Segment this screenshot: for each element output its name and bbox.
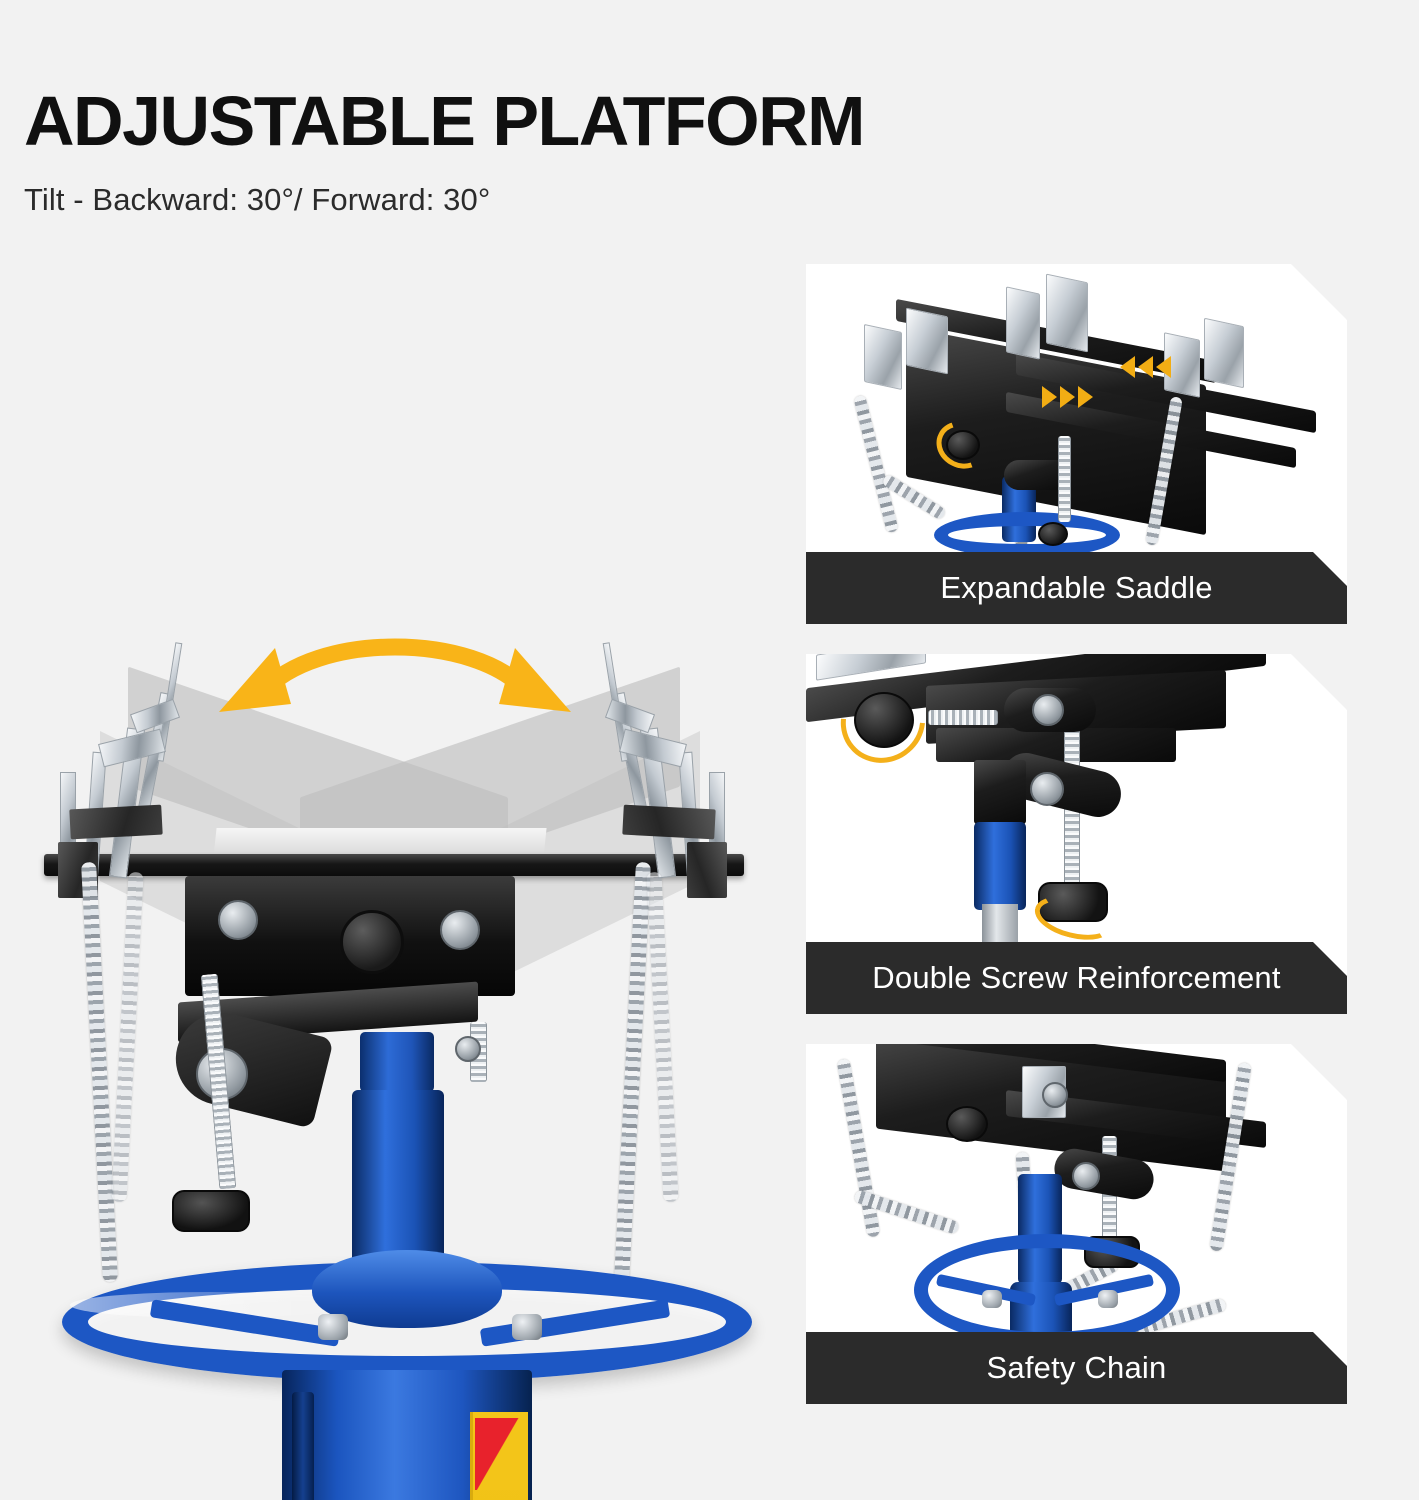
chevron-expand-icon <box>1042 386 1057 408</box>
hub-adjust-knob <box>340 910 404 974</box>
saddle-arm-right <box>575 632 745 892</box>
hero-product-image <box>0 262 790 1500</box>
ring-bolt-right <box>512 1314 542 1340</box>
base-ring <box>934 512 1120 558</box>
safety-chain-left-2 <box>111 872 143 1202</box>
feature-caption-expandable-saddle: Expandable Saddle <box>806 552 1347 624</box>
feature-caption-double-screw: Double Screw Reinforcement <box>806 942 1347 1014</box>
feature-caption-label: Double Screw Reinforcement <box>872 960 1280 996</box>
ram-collar <box>360 1032 434 1092</box>
warning-sticker <box>470 1412 528 1500</box>
base-ring <box>914 1234 1180 1346</box>
ring-bolt-left <box>318 1314 348 1340</box>
feature-card-expandable-saddle[interactable]: Expandable Saddle <box>806 264 1347 624</box>
hub-bolt-right <box>440 910 480 950</box>
jack-column-rail <box>292 1392 314 1500</box>
adjuster-knob-left <box>172 1190 250 1232</box>
adjuster-pin-right <box>455 1036 481 1062</box>
feature-caption-safety-chain: Safety Chain <box>806 1332 1347 1404</box>
safety-chain-left <box>836 1058 880 1238</box>
tilt-arrow-icon <box>205 620 585 735</box>
safety-chain-left <box>81 862 118 1282</box>
safety-chain-right <box>614 862 651 1282</box>
sticker-red-banner <box>475 1418 528 1490</box>
reinforcement-screw-upper <box>928 710 998 725</box>
feature-card-double-screw[interactable]: Double Screw Reinforcement <box>806 654 1347 1014</box>
hub-bolt-left <box>218 900 258 940</box>
page-subtitle: Tilt - Backward: 30°/ Forward: 30° <box>24 182 864 218</box>
saddle-lock-knob <box>946 1106 988 1142</box>
hero-stage <box>0 262 790 1500</box>
feature-caption-label: Safety Chain <box>987 1350 1167 1386</box>
header: ADJUSTABLE PLATFORM Tilt - Backward: 30°… <box>24 86 864 218</box>
feature-card-safety-chain[interactable]: Safety Chain <box>806 1044 1347 1404</box>
feature-card-list: Expandable Saddle Double Screw Reinforce <box>806 264 1347 1434</box>
page-title: ADJUSTABLE PLATFORM <box>24 86 864 156</box>
saddle-arm-left <box>40 632 210 892</box>
safety-chain-right-2 <box>646 872 678 1202</box>
feature-caption-label: Expandable Saddle <box>940 570 1212 606</box>
